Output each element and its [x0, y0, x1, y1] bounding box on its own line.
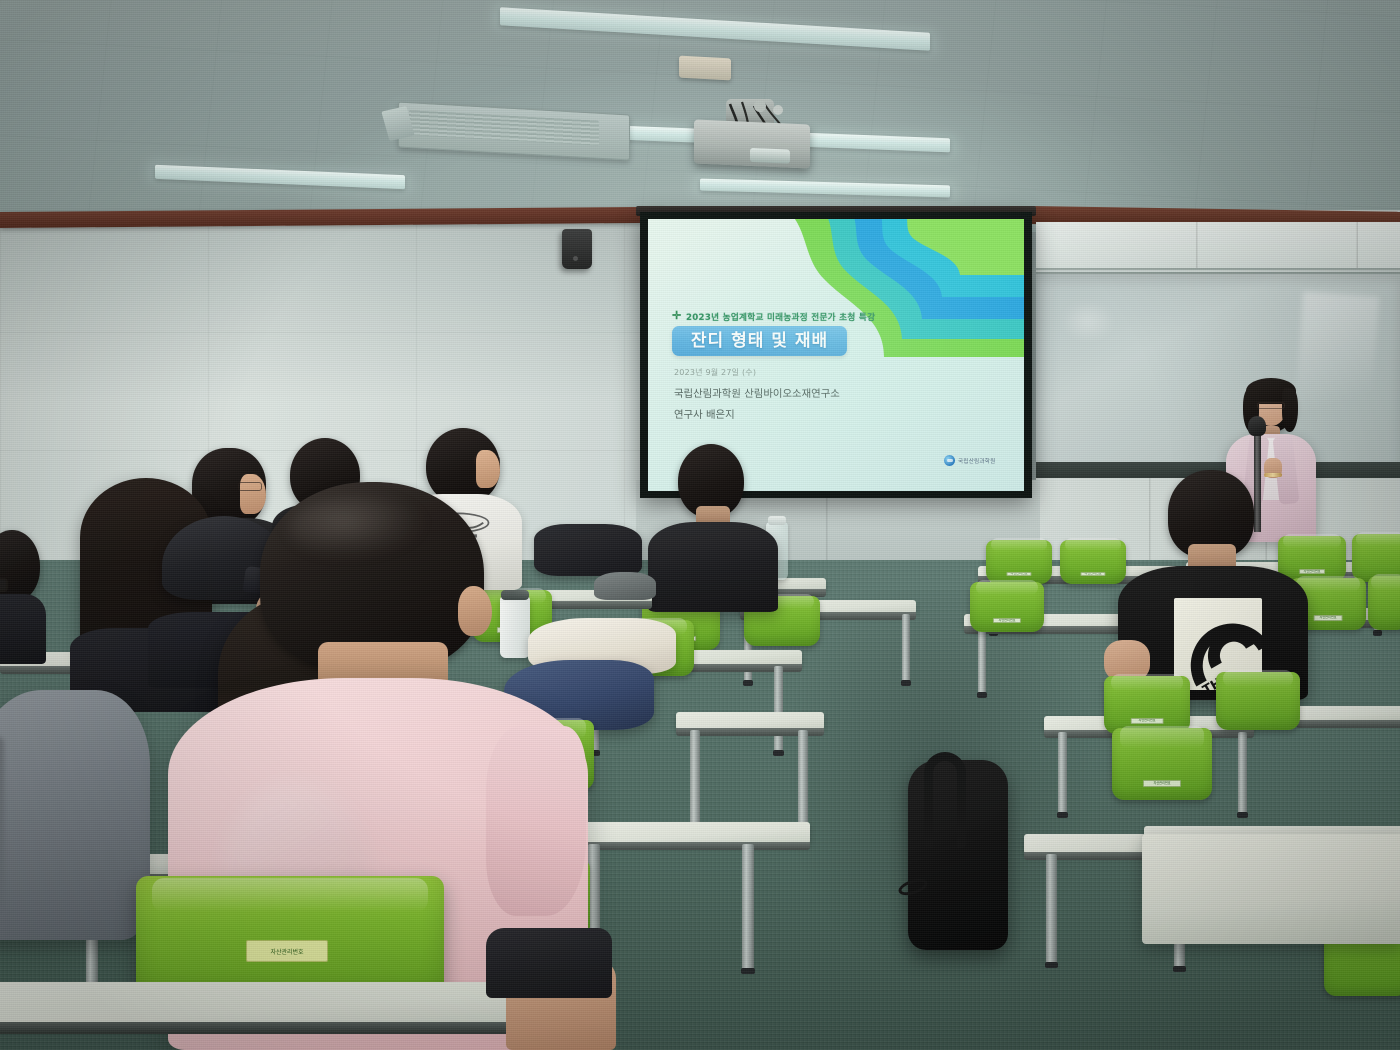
slide-subtitle: 2023년 농업계학교 미래농과정 전문가 초청 특강 — [686, 311, 986, 323]
chair-asset-tag: 자산관리번호 — [1314, 615, 1343, 620]
grey-jacket-fold — [0, 736, 4, 916]
foreground-desk — [0, 982, 530, 1026]
audience-dark-top — [0, 594, 46, 664]
wall-speaker — [562, 229, 592, 269]
desk — [676, 712, 824, 730]
pink-shirt-sleeve — [486, 726, 586, 916]
desk — [1296, 706, 1400, 722]
desk-leg — [690, 730, 700, 828]
audience-hair-highlight — [288, 496, 428, 560]
backpack-strap — [924, 752, 966, 848]
chair-asset-tag: 자산관리번호 — [1080, 572, 1105, 576]
chair-asset-tag-text: 자산관리번호 — [1010, 572, 1027, 575]
chair-asset-tag: 자산관리번호 — [1143, 780, 1181, 787]
chair-backrest — [1112, 728, 1212, 800]
desk-leg — [978, 628, 986, 694]
chair-backrest — [1060, 540, 1126, 584]
chair-asset-tag-text: 자산관리번호 — [1320, 616, 1337, 619]
grey-jacket — [0, 690, 150, 940]
presenter-hair-right — [1282, 388, 1298, 432]
upper-cabinets — [1036, 222, 1400, 270]
chair-asset-tag: 자산관리번호 — [1006, 572, 1031, 576]
slide-logo: 국립산림과학원 — [944, 455, 995, 466]
chair-asset-tag: 자산관리번호 — [993, 618, 1021, 623]
desk-leg — [1058, 732, 1067, 814]
ceiling-projector — [694, 119, 810, 168]
audience-ear — [458, 586, 492, 636]
desk — [570, 822, 810, 844]
audience-member-grey-jacket — [0, 690, 150, 940]
foreground-chair-asset-tag: 자산관리번호 — [246, 940, 328, 962]
audience-glasses-icon — [0, 578, 8, 592]
desk-leg — [742, 844, 754, 970]
slide-title: 잔디 형태 및 재배 — [691, 333, 828, 350]
lecture-hall-photo: ✛ 2023년 농업계학교 미래농과정 전문가 초청 특강 잔디 형태 및 재배… — [0, 0, 1400, 1050]
chair — [1216, 672, 1300, 730]
slide-title-box: 잔디 형태 및 재배 — [672, 326, 847, 356]
slide-logo-text: 국립산림과학원 — [958, 457, 995, 465]
chair: 자산관리번호 — [1112, 728, 1212, 800]
slide-presenter-name: 연구사 배은지 — [674, 406, 735, 421]
desk-leg — [1046, 854, 1057, 964]
desk-leg — [774, 666, 783, 752]
chair-backrest — [986, 540, 1052, 584]
audience-member-far-left-glasses — [0, 530, 44, 660]
chair-asset-tag-text: 자산관리번호 — [1154, 782, 1171, 785]
grey-bag-on-desk — [594, 572, 656, 600]
chair-backrest — [1216, 672, 1300, 730]
smoke-detector — [679, 56, 731, 81]
presenter-glasses-icon — [1257, 402, 1285, 409]
foreground-chair-highlight — [152, 878, 428, 912]
desk-leg — [1238, 732, 1247, 814]
chair: 자산관리번호 — [1060, 540, 1126, 584]
audience-member-dark-top-center — [648, 444, 778, 604]
slide-bullet-icon: ✛ — [672, 311, 681, 322]
audience-member-north-face-tee: THE NORTH FACE — [1118, 470, 1308, 700]
desk-leg — [902, 614, 910, 682]
chair-asset-tag-text: 자산관리번호 — [998, 619, 1015, 622]
chair — [1368, 576, 1400, 630]
chair-backrest — [970, 582, 1044, 632]
audience-dark-top — [648, 522, 778, 612]
foreground-chair-asset-tag-text: 자산관리번호 — [270, 947, 303, 956]
slide-date: 2023년 9월 27일 (수) — [674, 367, 756, 378]
chair-backrest — [1368, 576, 1400, 630]
chair: 자산관리번호 — [986, 540, 1052, 584]
chair: 자산관리번호 — [970, 582, 1044, 632]
chair-asset-tag: 자산관리번호 — [1131, 718, 1164, 724]
whiteboard-glare — [1060, 300, 1116, 342]
chair-asset-tag-text: 자산관리번호 — [1138, 719, 1155, 722]
chair-asset-tag-text: 자산관리번호 — [1084, 572, 1101, 575]
slide-organization: 국립산림과학원 산림바이오소재연구소 — [674, 385, 840, 400]
microphone-head-icon — [1248, 416, 1266, 436]
forest-service-logo-icon — [944, 455, 955, 466]
desk-leg — [798, 730, 808, 828]
foreground-desk-edge — [0, 1022, 530, 1034]
foreground-desk-right — [1142, 834, 1400, 944]
shorts — [486, 928, 612, 998]
